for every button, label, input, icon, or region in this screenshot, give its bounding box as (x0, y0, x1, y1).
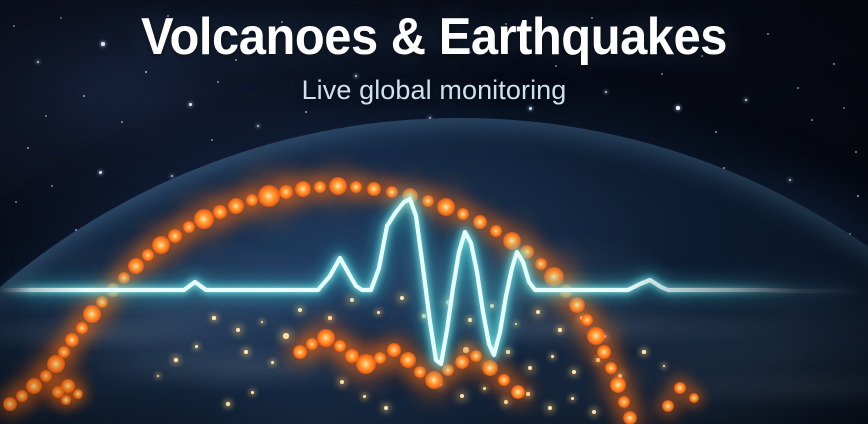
headline-block: Volcanoes & Earthquakes Live global moni… (0, 8, 868, 106)
app-store-feature-banner: Volcanoes & Earthquakes Live global moni… (0, 0, 868, 424)
page-subtitle: Live global monitoring (0, 74, 868, 106)
page-title: Volcanoes & Earthquakes (26, 8, 842, 66)
